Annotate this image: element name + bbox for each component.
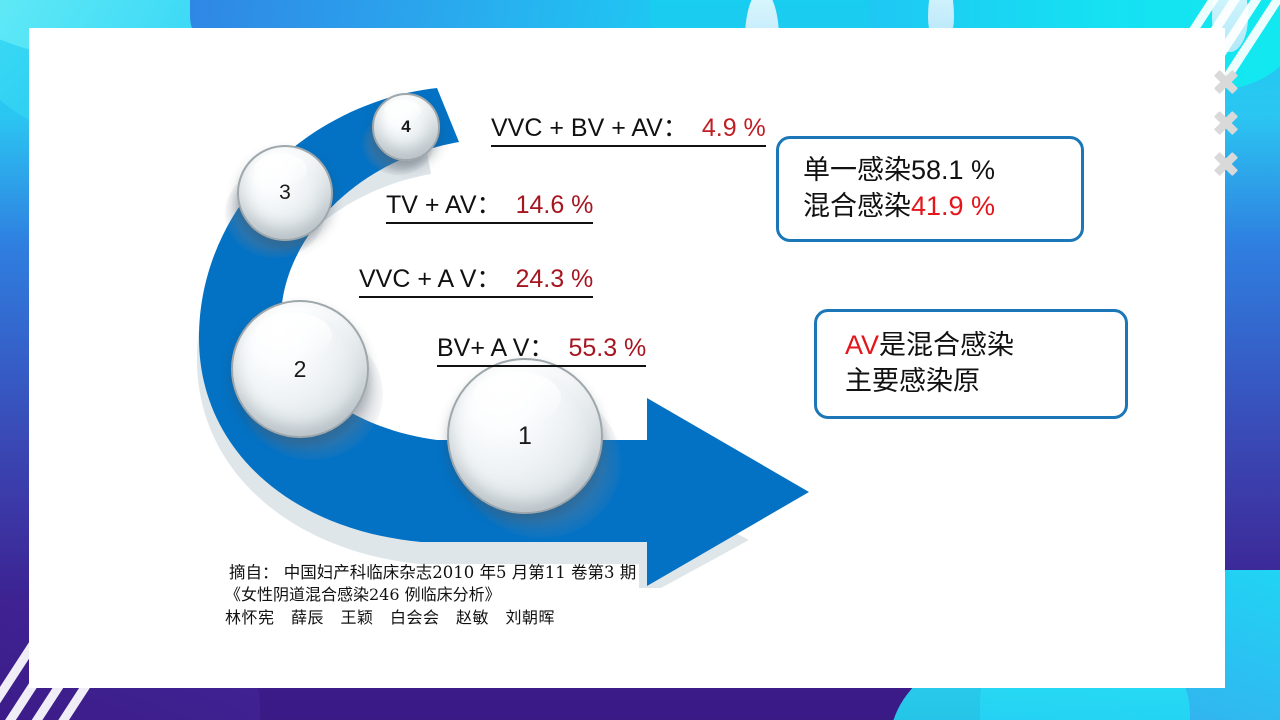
label-bv-av-text: BV+ A V： [437,334,554,362]
callout-top-line-1: 单一感染58.1 % [803,153,1081,189]
callout-bottom-highlight: AV [845,330,879,360]
callout-bottom-line-1: AV是混合感染 [845,328,1125,364]
callout-top-line-2-prefix: 混合感染 [803,191,911,221]
label-vvc-av-percent: 24.3 % [515,265,593,293]
x-mark-icon-1 [1213,69,1239,95]
callout-bottom-line-1-rest: 是混合感染 [879,330,1014,360]
callout-top-line-2-value: 41.9 % [911,191,995,221]
step-4-circle[interactable]: 4 [372,93,440,161]
slide-canvas: 2 3 4 1 VVC + BV + AV：4.9 % TV + AV：14.6… [0,0,1280,720]
step-2-number: 2 [294,356,307,383]
callout-av-conclusion: AV是混合感染 主要感染原 [814,309,1128,419]
label-vvc-av: VVC + A V：24.3 % [359,265,593,298]
label-tv-av: TV + AV：14.6 % [386,191,593,224]
callout-infection-rates: 单一感染58.1 % 混合感染41.9 % [776,136,1084,242]
citation-line-3: 林怀宪 薛辰 王颖 白会会 赵敏 刘朝晖 [225,607,636,630]
x-mark-icon-2 [1213,110,1239,136]
label-vvc-av-text: VVC + A V： [359,265,501,293]
label-tv-av-text: TV + AV： [386,191,502,219]
citation-line-2: 《女性阴道混合感染246 例临床分析》 [225,584,636,607]
label-bv-av-percent: 55.3 % [568,334,646,362]
label-vvc-bv-av-text: VVC + BV + AV： [491,114,688,142]
step-4-number: 4 [401,117,410,137]
label-tv-av-percent: 14.6 % [516,191,594,219]
callout-top-line-2: 混合感染41.9 % [803,189,1081,225]
step-3-number: 3 [279,181,291,205]
slide-content-card: 2 3 4 1 VVC + BV + AV：4.9 % TV + AV：14.6… [29,28,1225,688]
label-vvc-bv-av-percent: 4.9 % [702,114,766,142]
step-1-number: 1 [518,422,532,451]
step-2-circle[interactable]: 2 [231,300,369,438]
callout-bottom-line-2: 主要感染原 [845,364,1125,400]
label-bv-av: BV+ A V：55.3 % [437,334,646,367]
step-1-circle[interactable]: 1 [447,358,603,514]
step-3-circle[interactable]: 3 [237,145,333,241]
label-vvc-bv-av: VVC + BV + AV：4.9 % [491,114,766,147]
x-mark-icon-3 [1213,151,1239,177]
citation-block: 摘自： 中国妇产科临床杂志2010 年5 月第11 卷第3 期 《女性阴道混合感… [225,561,636,630]
citation-line-1: 摘自： 中国妇产科临床杂志2010 年5 月第11 卷第3 期 [229,561,636,584]
